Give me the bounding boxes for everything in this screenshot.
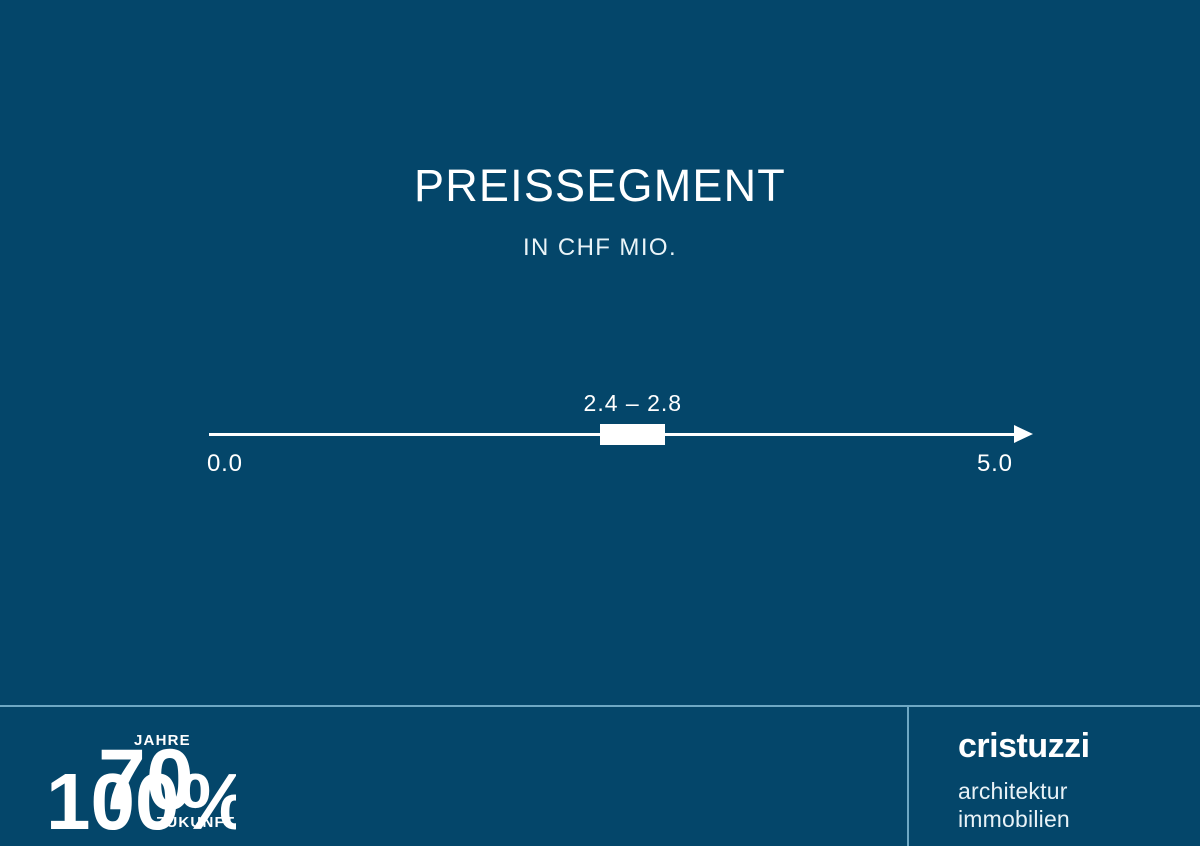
range-bar [600, 424, 665, 445]
brand-name: cristuzzi [958, 729, 1188, 763]
axis-arrow-icon [1014, 425, 1033, 443]
price-range-chart: 2.4 – 2.8 0.0 5.0 [0, 0, 1200, 700]
brand-tagline-line-1: architektur [958, 777, 1188, 805]
anniversary-percent-word: ZUKUNFT [156, 814, 235, 831]
brand-tagline-line-2: immobilien [958, 805, 1188, 833]
range-value-label: 2.4 – 2.8 [501, 392, 764, 415]
slide-canvas: PREISSEGMENT IN CHF MIO. 2.4 – 2.8 0.0 5… [0, 0, 1200, 846]
axis-max-label: 5.0 [977, 452, 1013, 476]
anniversary-logo: 70 JAHRE 100% ZUKUNFT [46, 721, 236, 833]
footer: 70 JAHRE 100% ZUKUNFT cristuzzi architek… [0, 707, 1200, 846]
brand-logo: cristuzzi architektur immobilien [958, 729, 1188, 833]
anniversary-years-word: JAHRE [134, 732, 191, 749]
axis-min-label: 0.0 [207, 452, 243, 476]
